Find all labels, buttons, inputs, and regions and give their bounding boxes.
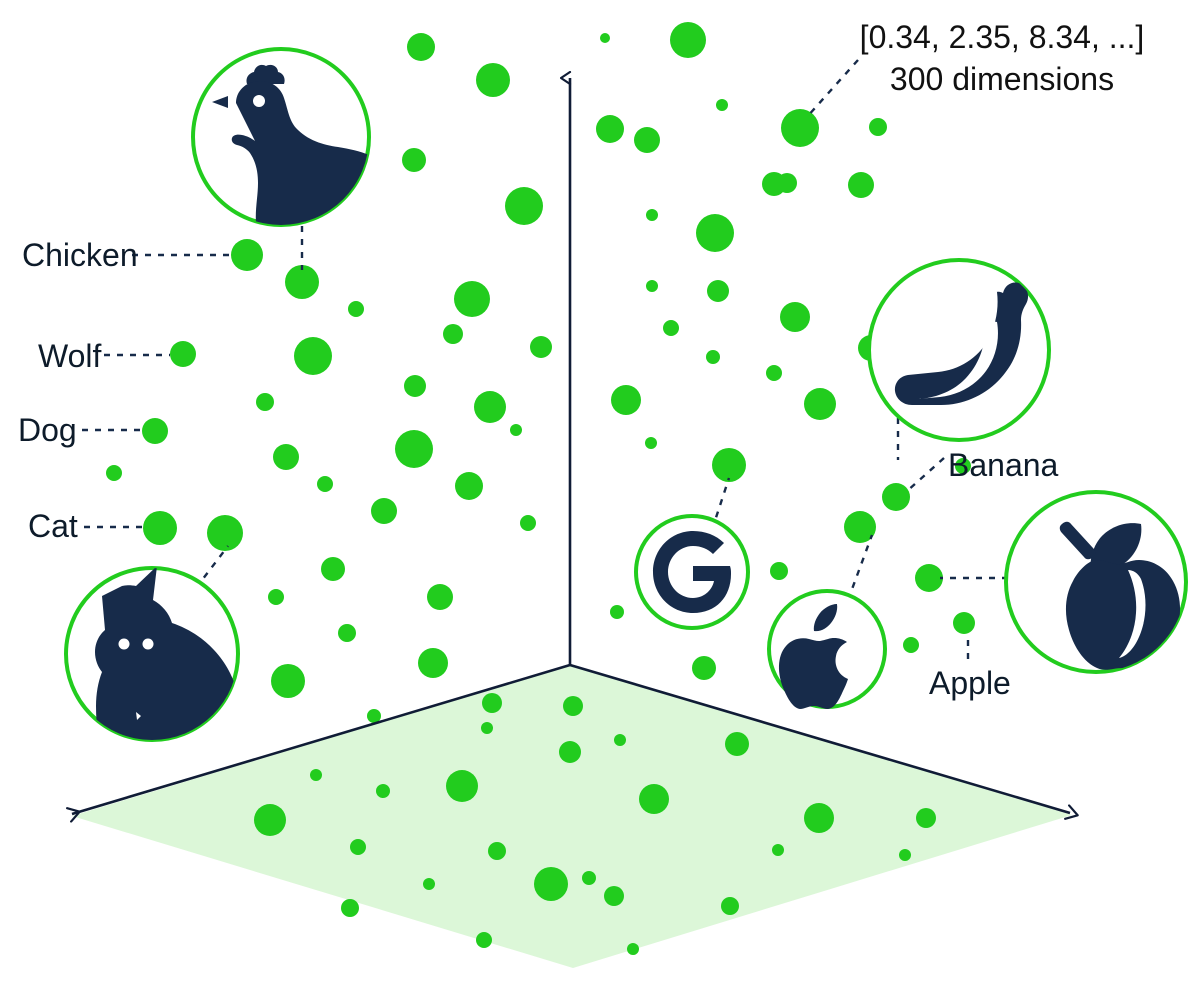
embedding-dot-left <box>505 187 543 225</box>
embedding-dot-right <box>712 448 746 482</box>
embedding-dot-floor <box>559 741 581 763</box>
vector-values-text: [0.34, 2.35, 8.34, ...] <box>852 16 1152 58</box>
embedding-dot-right <box>882 483 910 511</box>
embedding-dot-left <box>404 375 426 397</box>
embedding-dot-right <box>804 388 836 420</box>
embedding-dot-floor <box>725 732 749 756</box>
embedding-dot-right <box>770 562 788 580</box>
apple-circle[interactable] <box>769 591 885 709</box>
vector-leader <box>806 60 858 118</box>
embedding-dot-floor <box>488 842 506 860</box>
embedding-dot-left <box>142 418 168 444</box>
embedding-dot-floor <box>772 844 784 856</box>
label-banana: Banana <box>948 447 1058 483</box>
embedding-dot-right <box>645 437 657 449</box>
embedding-dot-left <box>395 430 433 468</box>
embedding-dot-floor <box>423 878 435 890</box>
embedding-dot-right <box>692 656 716 680</box>
embedding-dot-left <box>443 324 463 344</box>
embedding-dot-floor <box>481 722 493 734</box>
embedding-dot-left <box>476 63 510 97</box>
embedding-dot-left <box>402 148 426 172</box>
embedding-dot-right <box>634 127 660 153</box>
embedding-dot-left <box>321 557 345 581</box>
embedding-dot-right <box>869 118 887 136</box>
embedding-dot-left <box>530 336 552 358</box>
embedding-dot-right <box>707 280 729 302</box>
embedding-dot-left <box>268 589 284 605</box>
embedding-dot-left <box>106 465 122 481</box>
embedding-dot-floor <box>563 696 583 716</box>
embedding-dot-left <box>231 239 263 271</box>
google-circle[interactable] <box>636 516 748 628</box>
embedding-dot-right <box>670 22 706 58</box>
scene-svg <box>0 0 1200 990</box>
fruit-apple-circle[interactable] <box>1006 492 1186 672</box>
embedding-dot-right <box>663 320 679 336</box>
embedding-dot-right <box>848 172 874 198</box>
label-dog: Dog <box>18 412 77 448</box>
embedding-dot-right <box>646 280 658 292</box>
label-apple: Apple <box>929 665 1011 701</box>
embedding-dot-right <box>716 99 728 111</box>
embedding-dot-floor <box>899 849 911 861</box>
label-cat: Cat <box>28 508 78 544</box>
embedding-dot-left <box>294 337 332 375</box>
embedding-dot-left <box>510 424 522 436</box>
embedding-dot-floor <box>476 932 492 948</box>
apple-circle-connector <box>848 535 872 600</box>
embedding-dot-floor <box>804 803 834 833</box>
embedding-dot-left <box>143 511 177 545</box>
embedding-dot-right <box>903 637 919 653</box>
embedding-dot-left <box>600 33 610 43</box>
vector-annotation: [0.34, 2.35, 8.34, ...] 300 dimensions <box>852 16 1152 100</box>
embedding-dot-left <box>348 301 364 317</box>
label-wolf: Wolf <box>38 338 101 374</box>
embedding-dot-right <box>596 115 624 143</box>
embedding-dot-right <box>777 173 797 193</box>
embedding-dot-left <box>285 265 319 299</box>
embedding-dot-left <box>170 341 196 367</box>
embedding-dot-floor <box>534 867 568 901</box>
embedding-dot-floor <box>604 886 624 906</box>
embedding-dot-floor <box>916 808 936 828</box>
embedding-dot-right <box>706 350 720 364</box>
embedding-dot-left <box>482 693 502 713</box>
embedding-dot-right <box>646 209 658 221</box>
embedding-dot-left <box>454 281 490 317</box>
embedding-dot-floor <box>350 839 366 855</box>
embedding-dot-left <box>407 33 435 61</box>
embedding-dot-floor <box>254 804 286 836</box>
embedding-dot-left <box>474 391 506 423</box>
label-chicken: Chicken <box>22 237 138 273</box>
banana-circle[interactable] <box>869 260 1049 440</box>
banana-leader <box>906 458 944 492</box>
embedding-dot-right <box>611 385 641 415</box>
cat-circle[interactable] <box>66 566 240 777</box>
embedding-dot-right <box>781 109 819 147</box>
embedding-dot-right <box>696 214 734 252</box>
embedding-dot-left <box>317 476 333 492</box>
embedding-dot-left <box>256 393 274 411</box>
embedding-dot-left <box>338 624 356 642</box>
embedding-dot-left <box>455 472 483 500</box>
embedding-dot-left <box>371 498 397 524</box>
embedding-dot-left <box>207 515 243 551</box>
embedding-dot-floor <box>376 784 390 798</box>
embedding-dot-right <box>953 612 975 634</box>
embedding-dot-left <box>273 444 299 470</box>
embedding-dot-right <box>915 564 943 592</box>
embedding-dot-left <box>427 584 453 610</box>
embedding-dot-left <box>520 515 536 531</box>
embedding-dot-left <box>271 664 305 698</box>
embedding-dot-floor <box>721 897 739 915</box>
embedding-dot-floor <box>341 899 359 917</box>
embedding-dot-right <box>766 365 782 381</box>
embedding-space-figure: ChickenWolfDogCatBananaApple [0.34, 2.35… <box>0 0 1200 990</box>
embedding-dot-floor <box>639 784 669 814</box>
embedding-dot-left <box>418 648 448 678</box>
embedding-dot-right <box>610 605 624 619</box>
embedding-dot-floor <box>310 769 322 781</box>
embedding-dot-floor <box>627 943 639 955</box>
vector-dimensions-text: 300 dimensions <box>852 58 1152 100</box>
embedding-dot-floor <box>614 734 626 746</box>
embedding-dot-right <box>780 302 810 332</box>
embedding-dot-floor <box>582 871 596 885</box>
embedding-dot-floor <box>446 770 478 802</box>
